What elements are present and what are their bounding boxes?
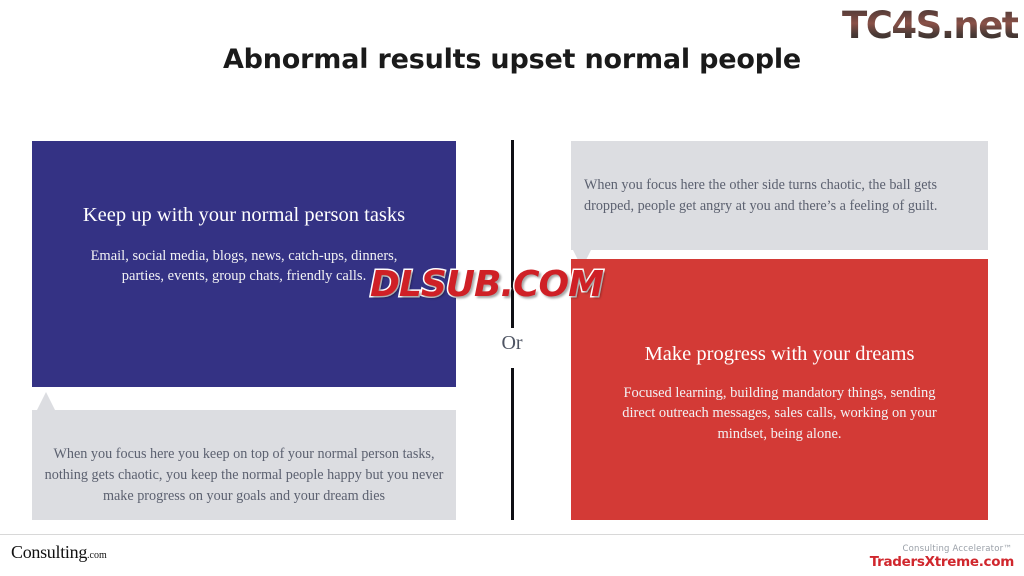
vertical-divider-bottom: [511, 368, 514, 520]
presentation-slide: Abnormal results upset normal people Kee…: [0, 0, 1024, 576]
watermark-tradersxtreme: TradersXtreme.com: [870, 554, 1014, 570]
callout-dreams-outcome: When you focus here the other side turns…: [571, 141, 988, 250]
page-title: Abnormal results upset normal people: [0, 44, 1024, 75]
callout-text-normal-tasks: When you focus here you keep on top of y…: [44, 444, 444, 507]
logo-word: Consulting: [11, 542, 87, 562]
panel-body-dreams: Focused learning, building mandatory thi…: [571, 383, 988, 445]
callout-tail-up-icon: [37, 392, 55, 410]
footer-divider: [0, 534, 1024, 535]
option-panel-dreams: Make progress with your dreams Focused l…: [571, 259, 988, 520]
consulting-logo: Consulting.com: [11, 542, 107, 563]
callout-text-dreams: When you focus here the other side turns…: [584, 175, 975, 217]
product-name-label: Consulting Accelerator™: [902, 544, 1012, 554]
callout-normal-tasks-outcome: When you focus here you keep on top of y…: [32, 410, 456, 520]
panel-heading-normal-tasks: Keep up with your normal person tasks: [32, 203, 456, 228]
logo-tld: .com: [87, 550, 107, 561]
panel-heading-dreams: Make progress with your dreams: [571, 342, 988, 367]
watermark-tc4s: TC4S.net: [842, 4, 1018, 47]
watermark-dlsub: DLSUB.COM: [370, 264, 603, 305]
divider-or-label: Or: [479, 332, 545, 355]
